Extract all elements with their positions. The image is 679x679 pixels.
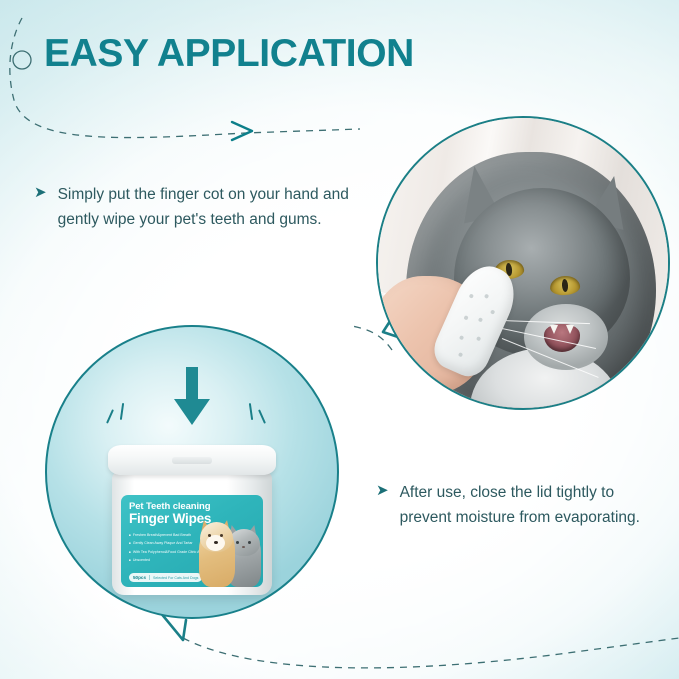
badge-text: Selected For Cats And Dogs [153, 576, 198, 580]
label-badge: 50pcs Selected For Cats And Dogs [129, 573, 202, 582]
product-jar-circle: Pet Teeth cleaning Finger Wipes Freshen … [45, 325, 339, 619]
arrow-bullet-icon: ➤ [34, 182, 47, 204]
jar-label: Pet Teeth cleaning Finger Wipes Freshen … [121, 495, 263, 587]
infographic-canvas: EASY APPLICATION ➤ Simply put the finger… [0, 0, 679, 679]
arrow-bullet-icon: ➤ [376, 480, 389, 502]
label-dog [199, 525, 235, 587]
jar-lid-tab [172, 457, 212, 464]
instruction-item-2: ➤ After use, close the lid tightly to pr… [376, 480, 644, 530]
down-arrow-icon [172, 367, 212, 429]
label-pet-artwork [199, 507, 261, 587]
instruction-item-1: ➤ Simply put the finger cot on your hand… [34, 182, 354, 232]
instruction-text: After use, close the lid tightly to prev… [400, 480, 644, 530]
page-title: EASY APPLICATION [44, 34, 414, 73]
instruction-text: Simply put the finger cot on your hand a… [58, 182, 354, 232]
circle-node-icon [13, 51, 31, 69]
product-jar: Pet Teeth cleaning Finger Wipes Freshen … [112, 445, 272, 595]
jar-body: Pet Teeth cleaning Finger Wipes Freshen … [112, 471, 272, 595]
jar-lid [108, 445, 276, 475]
arrow-title-to-photo-icon [232, 122, 252, 140]
cat-photo-circle [376, 116, 670, 410]
badge-count: 50pcs [133, 575, 146, 580]
